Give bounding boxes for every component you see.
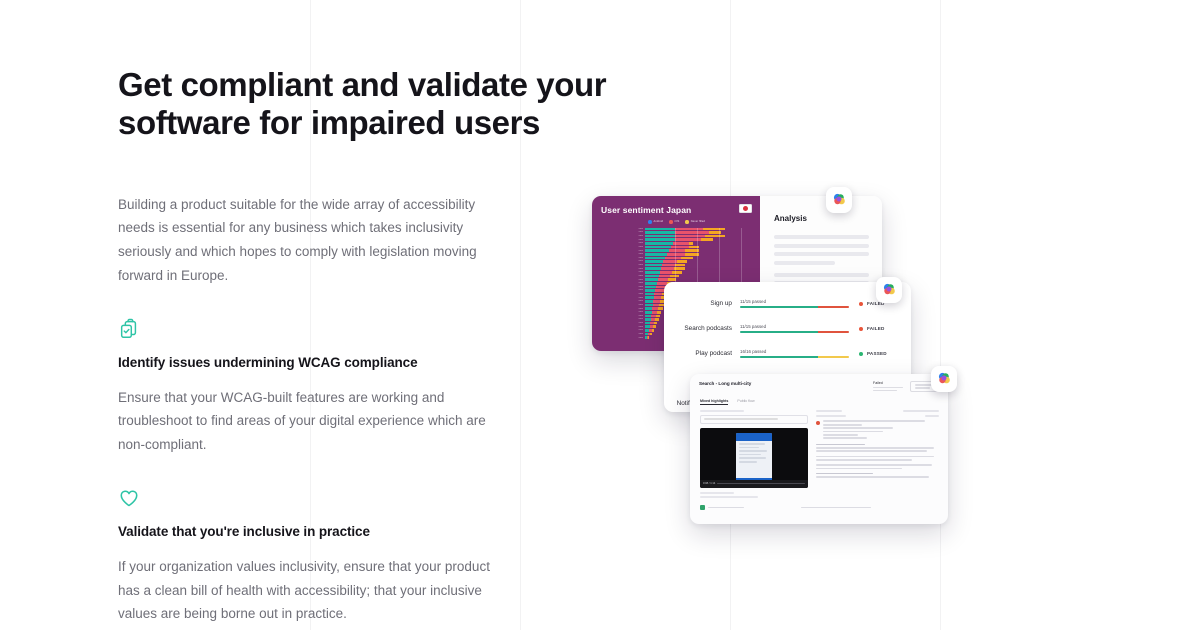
chart-legend: Android iOS Never filled	[601, 220, 752, 224]
bar-label: •••••••	[601, 260, 645, 262]
status-label: PASSED	[867, 351, 887, 356]
bar-segment	[705, 235, 725, 238]
bar-segment	[672, 271, 682, 274]
bar-row: •••••••	[601, 246, 752, 249]
video-scrubber[interactable]	[717, 483, 805, 484]
status-dot-icon	[859, 327, 863, 331]
bar-segment	[701, 238, 713, 241]
bar-row: •••••••	[601, 228, 752, 231]
hero-copy-column: Get compliant and validate your software…	[118, 66, 518, 626]
bar-label: •••••••	[601, 329, 645, 331]
status-label: FAILED	[867, 326, 885, 331]
feature-title-inclusive: Validate that you're inclusive in practi…	[118, 524, 510, 539]
product-screenshot-collage: User sentiment Japan Android iOS Never f…	[580, 170, 1000, 550]
bar-segment	[654, 293, 662, 296]
feature-block-wcag: Identify issues undermining WCAG complia…	[118, 318, 510, 457]
bar-segment	[652, 329, 654, 332]
bar-row: •••••••	[601, 271, 752, 274]
detail-header: Search - Long multi-city Failed	[690, 374, 948, 393]
bar-segment	[645, 228, 675, 231]
bar-segment	[681, 257, 693, 260]
test-progress: 16/16 passed	[740, 349, 849, 358]
error-dot-icon	[816, 421, 820, 425]
progress-bar	[740, 356, 849, 358]
marketing-hero-page: Get compliant and validate your software…	[0, 0, 1200, 630]
failed-step	[816, 420, 939, 440]
device-info-box	[700, 415, 808, 424]
bar-segment	[675, 231, 709, 234]
progress-bar	[740, 306, 849, 308]
bar-label: •••••••	[601, 311, 645, 313]
bar-segment	[645, 311, 652, 314]
legend-item: Never filled	[685, 220, 705, 224]
detail-right-column	[816, 410, 939, 501]
bar-segment	[645, 257, 665, 260]
bar-label: •••••••	[601, 315, 645, 317]
bar-label: •••••••	[601, 289, 645, 291]
status-dot-icon	[859, 302, 863, 306]
bar-segment	[645, 267, 661, 270]
product-logo-icon	[936, 371, 952, 387]
detail-status: Failed	[873, 381, 903, 393]
hero-lede: Building a product suitable for the wide…	[118, 193, 508, 288]
bar-segment	[645, 253, 667, 256]
bar-row: •••••••	[601, 242, 752, 245]
bar-row: •••••••	[601, 257, 752, 260]
test-passed-count: 11/15 passed	[740, 324, 849, 329]
bar-segment	[645, 235, 675, 238]
bar-row: •••••••	[601, 267, 752, 270]
bar-segment	[645, 264, 662, 267]
bar-label: •••••••	[601, 286, 645, 288]
bar-segment	[662, 264, 675, 267]
bar-row: •••••••	[601, 253, 752, 256]
bar-segment	[645, 238, 675, 241]
bar-segment	[645, 293, 654, 296]
bar-label: •••••••	[601, 326, 645, 328]
bar-segment	[665, 257, 681, 260]
bar-row: •••••••	[601, 235, 752, 238]
bar-segment	[675, 264, 685, 267]
status-dot-icon	[859, 352, 863, 356]
legend-item: iOS	[669, 220, 679, 224]
bar-segment	[654, 296, 661, 299]
bar-segment	[660, 271, 672, 274]
bar-label: •••••••	[601, 318, 645, 320]
bar-segment	[657, 311, 661, 314]
bar-row: •••••••	[601, 278, 752, 281]
bar-segment	[689, 246, 699, 249]
status-badge: PASSED	[849, 351, 903, 356]
bar-label: •••••••	[601, 268, 645, 270]
product-logo-icon	[831, 192, 847, 208]
bar-segment	[650, 333, 652, 336]
heart-icon	[118, 487, 510, 509]
bar-label: •••••••	[601, 242, 645, 244]
test-detail-card[interactable]: Search - Long multi-city Failed Mixed hi…	[690, 374, 948, 524]
test-name: Play podcast	[664, 350, 740, 357]
bar-segment	[645, 260, 663, 263]
tab-public-flow[interactable]: Public flow	[737, 399, 754, 406]
table-row[interactable]: Sign up11/15 passedFAILED	[664, 291, 911, 316]
bar-label: •••••••	[601, 228, 645, 230]
bar-label: •••••••	[601, 275, 645, 277]
bar-segment	[645, 246, 671, 249]
bar-segment	[671, 246, 689, 249]
player-controls[interactable]: 0:08 / 1:14	[700, 480, 808, 488]
test-name: Sign up	[664, 300, 740, 307]
bar-segment	[655, 289, 664, 292]
bar-segment	[703, 228, 725, 231]
bar-row: •••••••	[601, 264, 752, 267]
status-badge: FAILED	[849, 326, 903, 331]
bar-segment	[645, 304, 653, 307]
tab-mixed-highlights[interactable]: Mixed highlights	[700, 399, 728, 406]
bar-row: •••••••	[601, 238, 752, 241]
page-title: Get compliant and validate your software…	[118, 66, 738, 143]
bar-segment	[675, 228, 703, 231]
bar-segment	[677, 260, 687, 263]
bar-segment	[648, 336, 649, 339]
test-passed-count: 16/16 passed	[740, 349, 849, 354]
bar-row: •••••••	[601, 260, 752, 263]
bar-label: •••••••	[601, 239, 645, 241]
jp-flag-icon	[739, 204, 752, 213]
feature-body-wcag: Ensure that your WCAG-built features are…	[118, 386, 510, 457]
bar-label: •••••••	[601, 322, 645, 324]
clipboard-check-icon	[118, 318, 510, 340]
bar-segment	[667, 253, 685, 256]
bar-segment	[653, 300, 660, 303]
feature-body-inclusive: If your organization values inclusivity,…	[118, 555, 510, 626]
bar-label: •••••••	[601, 297, 645, 299]
bar-segment	[656, 315, 660, 318]
bar-label: •••••••	[601, 264, 645, 266]
bar-label: •••••••	[601, 257, 645, 259]
bar-label: •••••••	[601, 304, 645, 306]
product-logo-badge[interactable]	[931, 366, 957, 392]
bar-segment	[659, 275, 670, 278]
legend-item: Android	[648, 220, 663, 224]
bar-segment	[645, 296, 654, 299]
detail-header-right: Failed	[873, 381, 940, 393]
table-row[interactable]: Play podcast16/16 passedPASSED	[664, 341, 911, 366]
bar-label: •••••••	[601, 231, 645, 233]
bar-segment	[654, 322, 657, 325]
product-logo-badge[interactable]	[876, 277, 902, 303]
detail-right-header	[816, 410, 939, 412]
bar-segment	[645, 300, 653, 303]
progress-bar	[740, 331, 849, 333]
bar-row: •••••••	[601, 249, 752, 252]
test-name: Search podcasts	[664, 325, 740, 332]
video-player[interactable]: 0:08 / 1:14	[700, 428, 808, 488]
bar-segment	[645, 278, 658, 281]
bar-label: •••••••	[601, 279, 645, 281]
test-progress: 11/15 passed	[740, 299, 849, 308]
bar-label: •••••••	[601, 250, 645, 252]
video-timecode: 0:08 / 1:14	[703, 482, 715, 485]
bar-label: •••••••	[601, 300, 645, 302]
bar-segment	[645, 286, 656, 289]
bar-segment	[674, 267, 685, 270]
bar-label: •••••••	[601, 246, 645, 248]
sentiment-card-title: User sentiment Japan	[601, 205, 752, 215]
test-progress: 11/15 passed	[740, 324, 849, 333]
product-logo-icon	[881, 282, 897, 298]
detail-title: Search - Long multi-city	[699, 381, 751, 386]
bar-segment	[653, 325, 656, 328]
bar-segment	[658, 278, 668, 281]
bar-row: •••••••	[601, 231, 752, 234]
table-row[interactable]: Search podcasts11/15 passedFAILED	[664, 316, 911, 341]
detail-tabs: Mixed highlights Public flow	[690, 393, 948, 406]
bar-segment	[675, 235, 705, 238]
bar-segment	[645, 289, 655, 292]
bar-segment	[658, 307, 663, 310]
detail-footer	[690, 501, 948, 510]
bar-segment	[645, 275, 659, 278]
detail-left-column: 0:08 / 1:14	[700, 410, 808, 501]
bar-segment	[645, 231, 675, 234]
bar-label: •••••••	[601, 271, 645, 273]
detail-body: 0:08 / 1:14	[690, 405, 948, 501]
feature-title-wcag: Identify issues undermining WCAG complia…	[118, 355, 510, 370]
bar-label: •••••••	[601, 333, 645, 335]
phone-screenshot	[736, 433, 772, 483]
bar-label: •••••••	[601, 235, 645, 237]
test-passed-count: 11/15 passed	[740, 299, 849, 304]
bar-row: •••••••	[601, 275, 752, 278]
bar-segment	[669, 249, 685, 252]
bar-segment	[645, 271, 660, 274]
bar-segment	[661, 267, 674, 270]
bar-segment	[645, 249, 669, 252]
bar-segment	[689, 242, 693, 245]
bar-segment	[645, 307, 652, 310]
product-logo-badge[interactable]	[826, 187, 852, 213]
bar-label: •••••••	[601, 282, 645, 284]
bar-label: •••••••	[601, 308, 645, 310]
bar-label: •••••••	[601, 337, 645, 339]
bar-label: •••••••	[601, 253, 645, 255]
success-indicator-icon	[700, 505, 705, 510]
bar-segment	[645, 242, 673, 245]
feature-block-inclusive: Validate that you're inclusive in practi…	[118, 487, 510, 626]
bar-segment	[655, 318, 659, 321]
analysis-title: Analysis	[774, 214, 869, 223]
bar-segment	[645, 282, 657, 285]
bar-label: •••••••	[601, 293, 645, 295]
